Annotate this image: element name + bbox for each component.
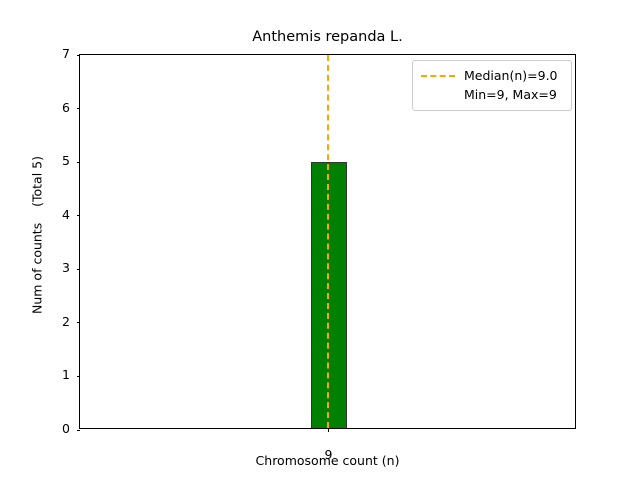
median-line (327, 55, 329, 428)
chart-figure: Anthemis repanda L. 01234567 9 Chromosom… (0, 0, 640, 480)
y-tick-mark (77, 430, 81, 431)
x-tick-mark (328, 428, 329, 432)
y-axis-label: Num of counts (Total 5) (31, 48, 45, 423)
dashed-line-icon (421, 75, 455, 77)
legend-item: Median(n)=9.0 (421, 66, 563, 85)
legend-item-label: Median(n)=9.0 (464, 69, 558, 83)
legend-item: Min=9, Max=9 (421, 85, 563, 104)
chart-title: Anthemis repanda L. (79, 28, 576, 46)
legend-item-label: Min=9, Max=9 (464, 88, 557, 102)
blank-sample-icon (421, 94, 455, 96)
x-axis-label: Chromosome count (n) (79, 454, 576, 468)
chart-legend: Median(n)=9.0 Min=9, Max=9 (412, 60, 572, 111)
